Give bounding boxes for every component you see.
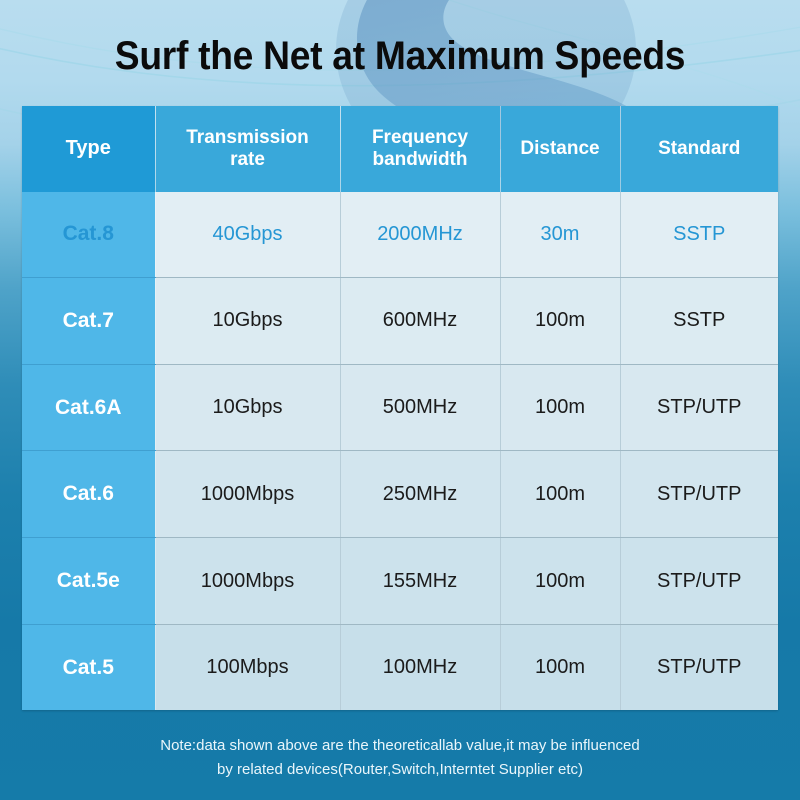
cell-rate: 1000Mbps	[155, 538, 340, 625]
cell-type: Cat.5	[22, 625, 155, 710]
header-row: Type Transmission rate Frequency bandwid…	[22, 106, 778, 192]
header-label-distance-line1: Distance	[520, 138, 599, 159]
table-body: Cat.840Gbps2000MHz30mSSTPCat.710Gbps600M…	[22, 192, 778, 710]
cell-distance: 100m	[500, 364, 620, 451]
cell-freq: 2000MHz	[340, 192, 500, 277]
cell-standard: STP/UTP	[620, 364, 778, 451]
table-row: Cat.840Gbps2000MHz30mSSTP	[22, 192, 778, 277]
column-header-standard: Standard	[620, 106, 778, 192]
cell-standard: STP/UTP	[620, 451, 778, 538]
cell-standard: SSTP	[620, 277, 778, 364]
header-label-freq-line1: Frequency	[372, 127, 468, 148]
cell-type: Cat.5e	[22, 538, 155, 625]
column-header-frequency-bandwidth: Frequency bandwidth	[340, 106, 500, 192]
table-header: Type Transmission rate Frequency bandwid…	[22, 106, 778, 192]
cell-standard: SSTP	[620, 192, 778, 277]
table-row: Cat.710Gbps600MHz100mSSTP	[22, 277, 778, 364]
cell-freq: 100MHz	[340, 625, 500, 710]
table-row: Cat.6A10Gbps500MHz100mSTP/UTP	[22, 364, 778, 451]
header-label-freq-line2: bandwidth	[373, 149, 468, 170]
header-label-type-line1: Type	[66, 137, 111, 159]
cell-distance: 30m	[500, 192, 620, 277]
spec-table-container: Type Transmission rate Frequency bandwid…	[22, 106, 778, 710]
table-row: Cat.61000Mbps250MHz100mSTP/UTP	[22, 451, 778, 538]
header-label-rate-line1: Transmission	[186, 127, 309, 148]
cell-rate: 10Gbps	[155, 277, 340, 364]
cell-type: Cat.6A	[22, 364, 155, 451]
cell-standard: STP/UTP	[620, 625, 778, 710]
table-row: Cat.5e1000Mbps155MHz100mSTP/UTP	[22, 538, 778, 625]
cell-rate: 10Gbps	[155, 364, 340, 451]
column-header-distance: Distance	[500, 106, 620, 192]
poster-canvas: Surf the Net at Maximum Speeds Type Tran…	[0, 0, 800, 800]
footnote-line-1: Note:data shown above are the theoretica…	[0, 734, 800, 758]
cell-distance: 100m	[500, 538, 620, 625]
column-header-type: Type	[22, 106, 155, 192]
table-row: Cat.5100Mbps100MHz100mSTP/UTP	[22, 625, 778, 710]
cell-type: Cat.7	[22, 277, 155, 364]
column-header-transmission-rate: Transmission rate	[155, 106, 340, 192]
cell-rate: 40Gbps	[155, 192, 340, 277]
footnote: Note:data shown above are the theoretica…	[0, 734, 800, 783]
cell-freq: 250MHz	[340, 451, 500, 538]
cell-freq: 155MHz	[340, 538, 500, 625]
spec-table: Type Transmission rate Frequency bandwid…	[22, 106, 778, 710]
cell-distance: 100m	[500, 277, 620, 364]
footnote-line-2: by related devices(Router,Switch,Internt…	[0, 758, 800, 782]
cell-type: Cat.8	[22, 192, 155, 277]
cell-type: Cat.6	[22, 451, 155, 538]
cell-distance: 100m	[500, 451, 620, 538]
page-title: Surf the Net at Maximum Speeds	[28, 34, 772, 79]
cell-freq: 600MHz	[340, 277, 500, 364]
header-label-rate-line2: rate	[230, 149, 265, 170]
cell-standard: STP/UTP	[620, 538, 778, 625]
cell-freq: 500MHz	[340, 364, 500, 451]
header-label-standard-line1: Standard	[658, 138, 740, 159]
cell-rate: 1000Mbps	[155, 451, 340, 538]
cell-distance: 100m	[500, 625, 620, 710]
cell-rate: 100Mbps	[155, 625, 340, 710]
